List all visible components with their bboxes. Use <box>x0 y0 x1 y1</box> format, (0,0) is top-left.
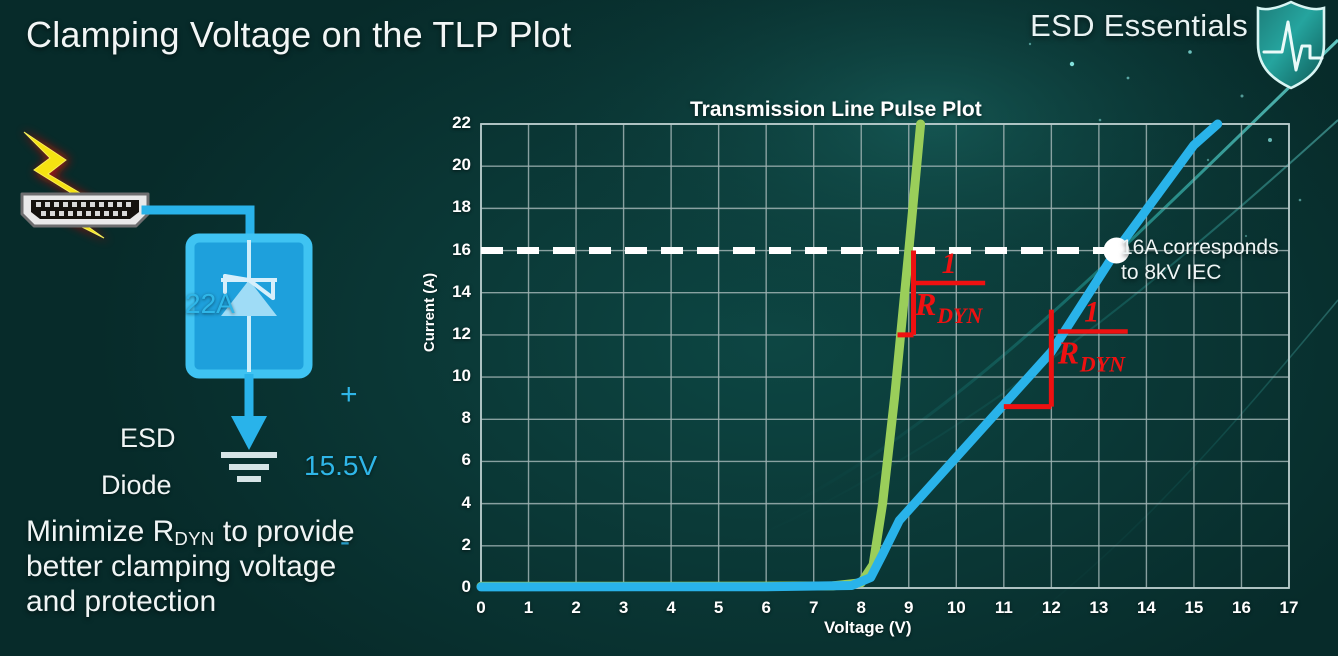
chart-gridlines <box>481 124 1289 588</box>
svg-text:DYN: DYN <box>936 303 983 328</box>
polarity-plus-label: + <box>340 378 358 412</box>
y-tick-label: 20 <box>437 155 471 175</box>
y-tick-label: 10 <box>437 366 471 386</box>
svg-text:1: 1 <box>942 247 957 280</box>
esd-protection-schematic: 22A 15.5V + - ESD Diode <box>0 120 420 500</box>
clamp-voltage-label: 15.5V <box>304 450 377 482</box>
summary-line3: and protection <box>26 585 216 618</box>
page-title: Clamping Voltage on the TLP Plot <box>26 14 571 56</box>
y-tick-label: 8 <box>437 408 471 428</box>
callout-line1: 16A corresponds <box>1121 236 1336 261</box>
svg-text:1: 1 <box>1084 295 1099 328</box>
chart-plot-area: 1RDYN1RDYN <box>408 88 1338 656</box>
x-tick-label: 14 <box>1133 598 1159 618</box>
current-label: 22A <box>185 288 235 320</box>
slide-canvas: Clamping Voltage on the TLP Plot ESD Ess… <box>0 0 1338 656</box>
y-tick-label: 14 <box>437 282 471 302</box>
x-tick-label: 6 <box>753 598 779 618</box>
y-tick-label: 4 <box>437 493 471 513</box>
brand-label: ESD Essentials <box>1030 8 1248 44</box>
x-tick-label: 5 <box>706 598 732 618</box>
y-tick-label: 2 <box>437 535 471 555</box>
x-tick-label: 1 <box>516 598 542 618</box>
x-tick-label: 11 <box>991 598 1017 618</box>
x-tick-label: 9 <box>896 598 922 618</box>
svg-text:R: R <box>1057 334 1079 370</box>
x-tick-label: 3 <box>611 598 637 618</box>
x-tick-label: 4 <box>658 598 684 618</box>
hdmi-connector-icon <box>22 194 148 226</box>
tlp-chart: Transmission Line Pulse Plot Current (A)… <box>408 88 1338 656</box>
x-tick-label: 16 <box>1228 598 1254 618</box>
x-tick-label: 15 <box>1181 598 1207 618</box>
x-tick-label: 8 <box>848 598 874 618</box>
threshold-callout: 16A corresponds to 8kV IEC <box>1121 236 1336 286</box>
summary-subscript: DYN <box>174 528 214 549</box>
x-tick-label: 0 <box>468 598 494 618</box>
summary-line1-post: to provide <box>215 515 355 548</box>
x-tick-label: 7 <box>801 598 827 618</box>
ground-icon <box>221 374 277 482</box>
x-tick-label: 10 <box>943 598 969 618</box>
summary-text: Minimize RDYN to provide better clamping… <box>26 515 446 619</box>
shield-pulse-icon <box>1252 0 1330 92</box>
y-tick-label: 6 <box>437 450 471 470</box>
summary-line2: better clamping voltage <box>26 550 336 583</box>
chart-annotations: 1RDYN1RDYN <box>898 247 1128 407</box>
x-tick-label: 2 <box>563 598 589 618</box>
y-tick-label: 22 <box>437 113 471 133</box>
x-tick-label: 13 <box>1086 598 1112 618</box>
summary-line1-pre: Minimize R <box>26 515 174 548</box>
device-label-line1: ESD <box>120 423 176 454</box>
y-tick-label: 16 <box>437 240 471 260</box>
y-tick-label: 12 <box>437 324 471 344</box>
svg-text:DYN: DYN <box>1079 351 1126 376</box>
device-label-line2: Diode <box>101 470 172 501</box>
y-tick-label: 0 <box>437 577 471 597</box>
x-tick-label: 17 <box>1276 598 1302 618</box>
svg-text:R: R <box>914 286 936 322</box>
x-tick-label: 12 <box>1038 598 1064 618</box>
callout-line2: to 8kV IEC <box>1121 261 1336 286</box>
y-tick-label: 18 <box>437 197 471 217</box>
